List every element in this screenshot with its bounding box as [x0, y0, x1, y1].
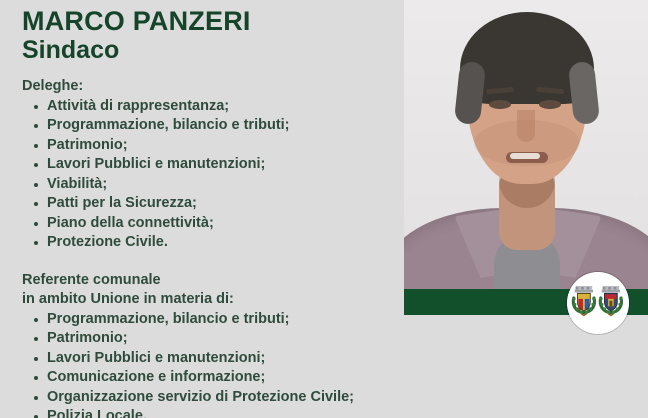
section-heading: Deleghe:: [22, 77, 412, 97]
municipal-coats-of-arms-badge: [567, 272, 629, 334]
list-item: Organizzazione servizio di Protezione Ci…: [33, 388, 412, 408]
eye-right: [539, 100, 561, 109]
text-column: MARCO PANZERI Sindaco Deleghe: Attività …: [22, 6, 412, 418]
list-item: Patrimonio;: [33, 136, 412, 156]
person-role: Sindaco: [22, 36, 412, 65]
list-item: Comunicazione e informazione;: [33, 368, 412, 388]
coats-of-arms-icon: [567, 272, 629, 334]
referente-list: Programmazione, bilancio e tributi; Patr…: [22, 310, 412, 418]
section-heading-line2: in ambito Unione in materia di:: [22, 290, 412, 310]
list-item: Lavori Pubblici e manutenzioni;: [33, 349, 412, 369]
page-title: MARCO PANZERI: [22, 6, 412, 36]
portrait-photo: [404, 0, 648, 315]
nose: [517, 110, 535, 142]
list-item: Lavori Pubblici e manutenzioni;: [33, 155, 412, 175]
eye-left: [489, 100, 511, 109]
list-item: Protezione Civile.: [33, 233, 412, 253]
section-heading: Referente comunale: [22, 271, 412, 291]
list-item: Viabilità;: [33, 175, 412, 195]
list-item: Programmazione, bilancio e tributi;: [33, 310, 412, 330]
list-item: Attività di rappresentanza;: [33, 97, 412, 117]
section-deleghe: Deleghe: Attività di rappresentanza; Pro…: [22, 77, 412, 253]
list-item: Programmazione, bilancio e tributi;: [33, 116, 412, 136]
list-item: Polizia Locale.: [33, 407, 412, 418]
section-referente-comunale: Referente comunale in ambito Unione in m…: [22, 271, 412, 418]
list-item: Patrimonio;: [33, 329, 412, 349]
slide-canvas: MARCO PANZERI Sindaco Deleghe: Attività …: [0, 0, 648, 418]
list-item: Patti per la Sicurezza;: [33, 194, 412, 214]
teeth: [510, 153, 540, 159]
list-item: Piano della connettività;: [33, 214, 412, 234]
person-figure: [404, 0, 648, 315]
deleghe-list: Attività di rappresentanza; Programmazio…: [22, 97, 412, 253]
